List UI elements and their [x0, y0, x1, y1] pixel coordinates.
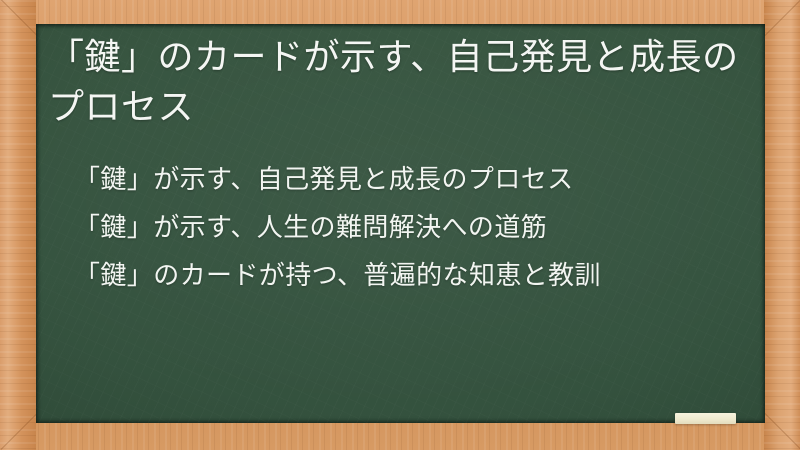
chalk-stick — [675, 413, 736, 424]
bullet-list: 「鍵」が示す、自己発見と成長のプロセス 「鍵」が示す、人生の難問解決への道筋 「… — [74, 155, 734, 299]
chalkboard-surface: 「鍵」のカードが示す、自己発見と成長のプロセス 「鍵」が示す、自己発見と成長のプ… — [36, 24, 765, 423]
list-item: 「鍵」のカードが持つ、普遍的な知恵と教訓 — [74, 251, 734, 299]
wooden-frame-left-rail — [0, 0, 36, 450]
list-item: 「鍵」が示す、人生の難問解決への道筋 — [74, 203, 734, 251]
list-item: 「鍵」が示す、自己発見と成長のプロセス — [74, 155, 734, 203]
chalkboard-slide: 「鍵」のカードが示す、自己発見と成長のプロセス 「鍵」が示す、自己発見と成長のプ… — [0, 0, 800, 450]
wooden-frame-right-rail — [764, 0, 800, 450]
page-title: 「鍵」のカードが示す、自己発見と成長のプロセス — [48, 32, 748, 132]
